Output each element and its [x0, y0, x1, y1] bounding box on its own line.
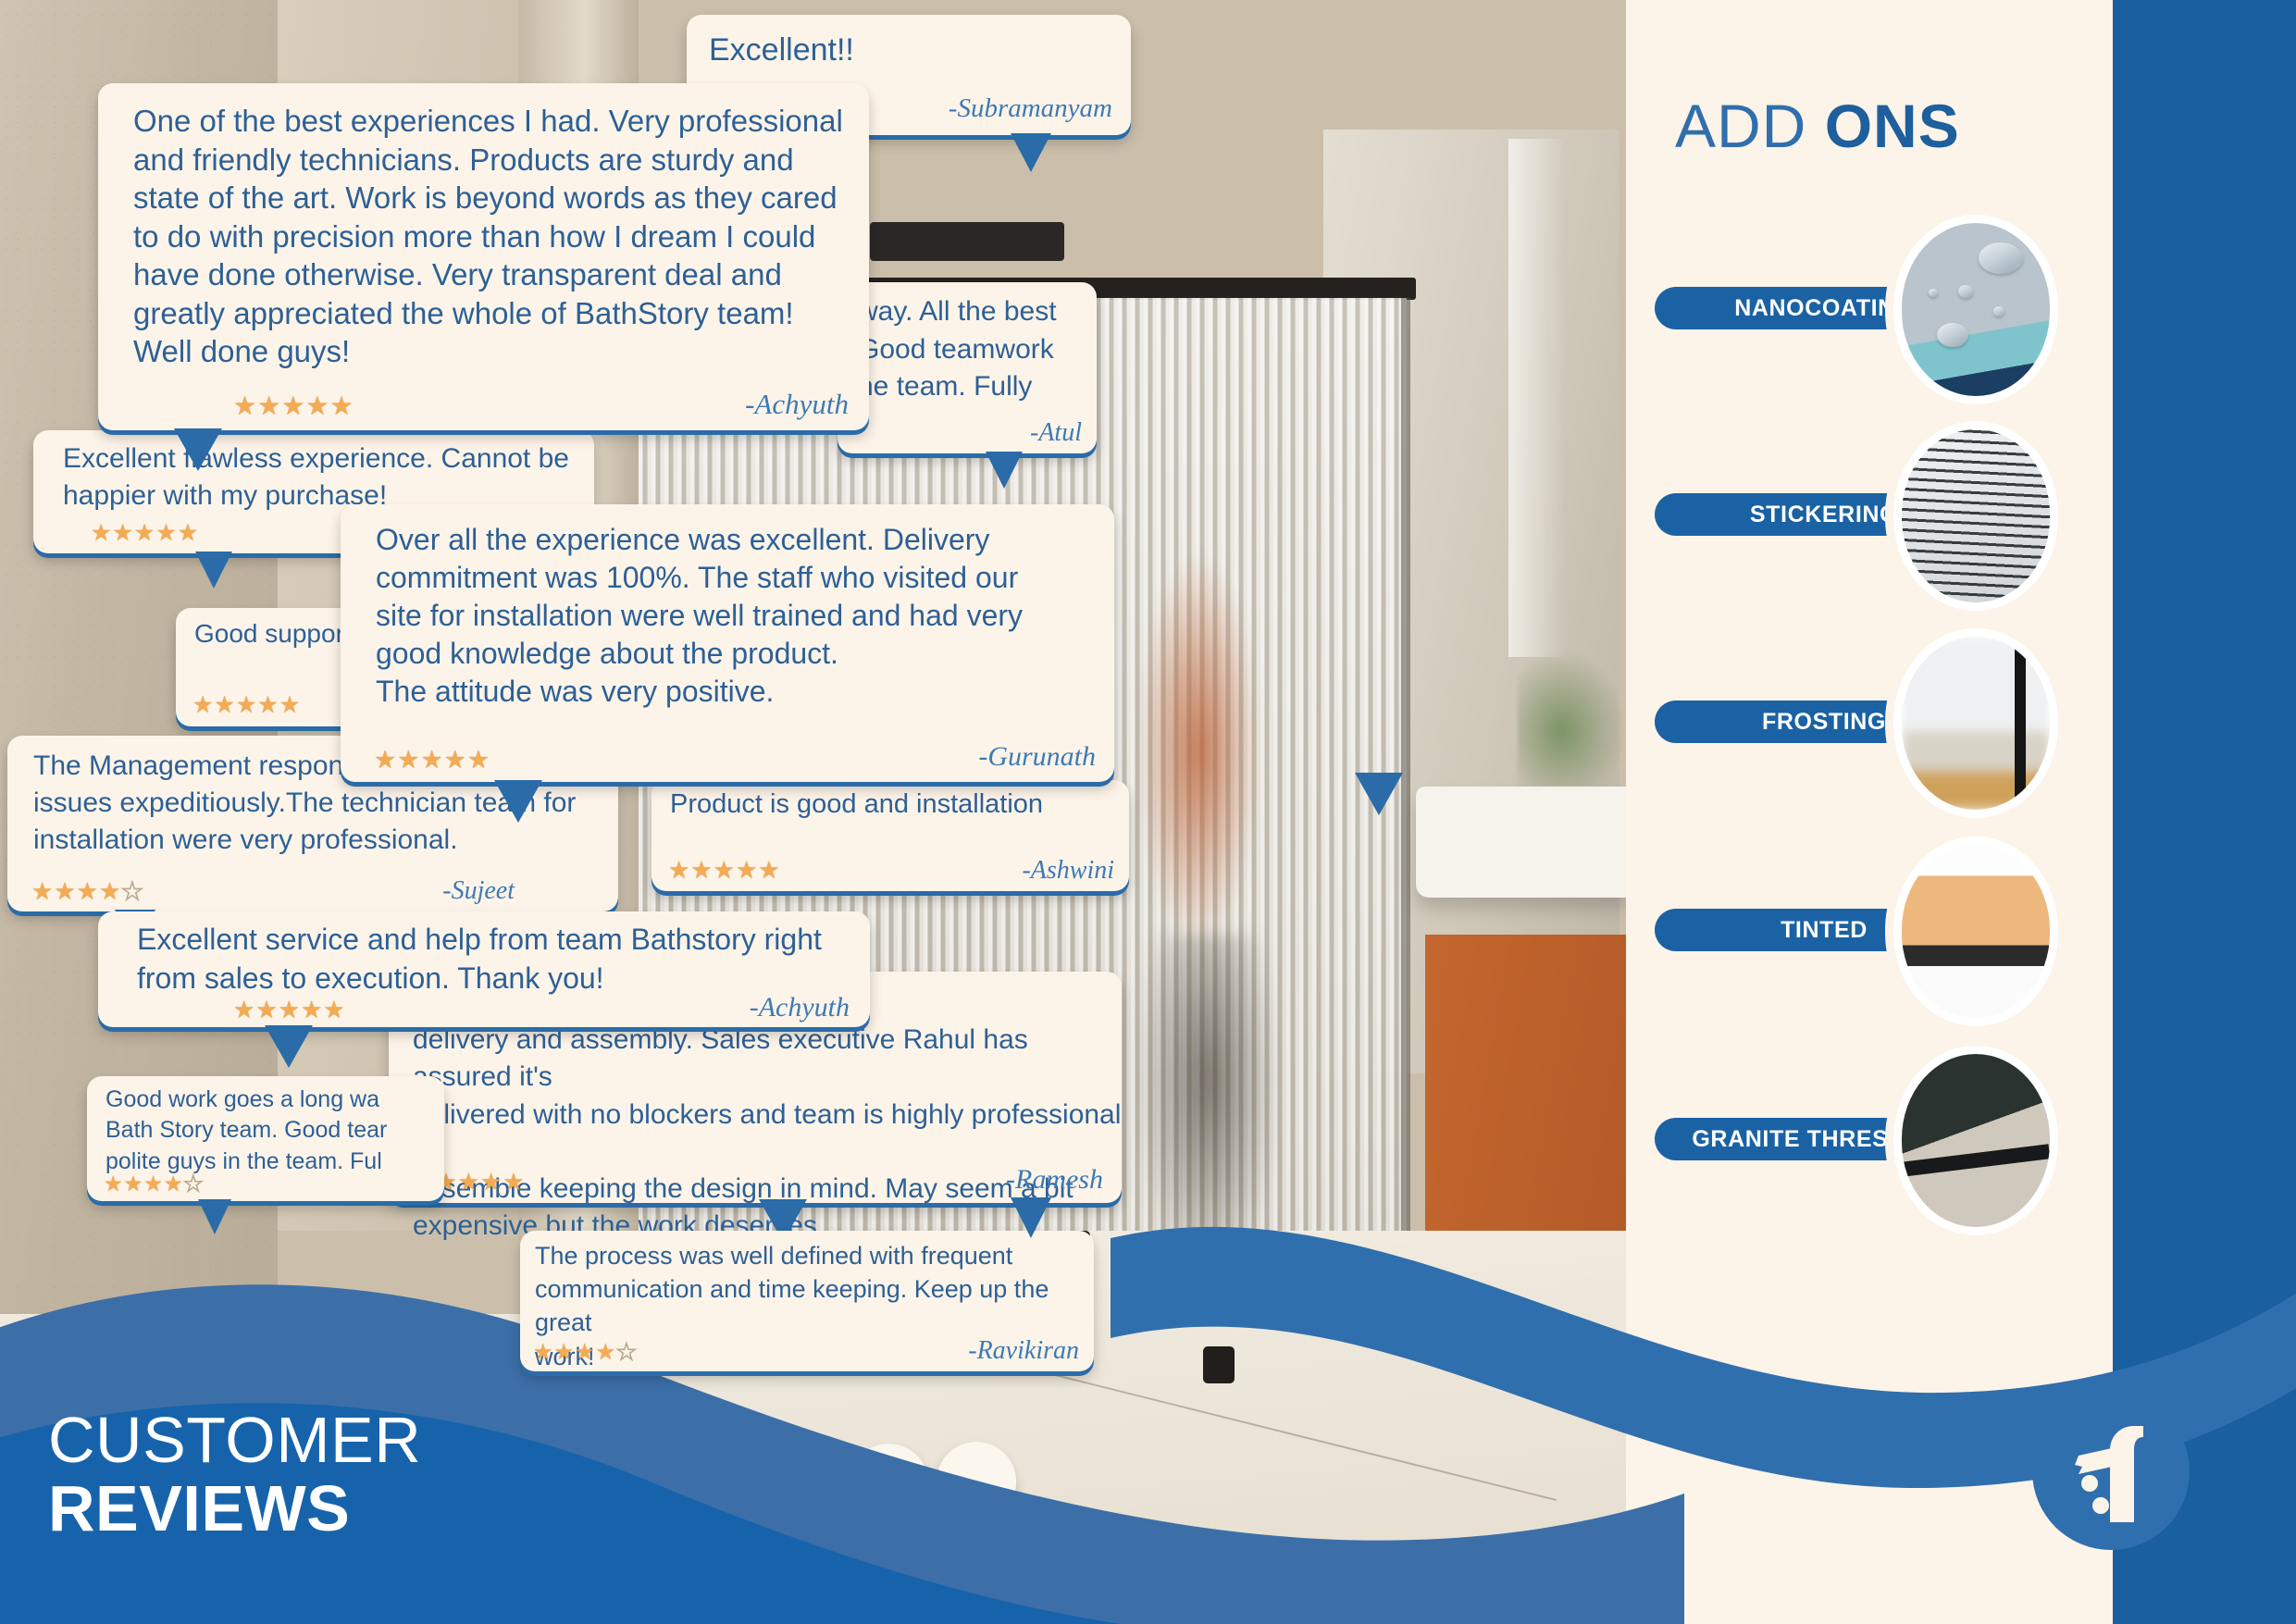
- review-bubble-ravikiran[interactable]: The process was well defined with freque…: [520, 1231, 1094, 1371]
- review-stars: ★★★★★: [233, 998, 346, 1022]
- page-title: CUSTOMER REVIEWS: [48, 1407, 421, 1543]
- review-author: -Gurunath: [978, 741, 1096, 773]
- review-stars: ★★★★★: [233, 393, 354, 419]
- review-bubble-atul[interactable]: way. All the best Good teamwork he team.…: [838, 282, 1097, 453]
- striped-sticker-film-thumb: [1893, 421, 2058, 611]
- review-bubble-achyuth-service[interactable]: Excellent service and help from team Bat…: [98, 911, 870, 1027]
- review-text: Good work goes a long wa Bath Story team…: [105, 1085, 387, 1177]
- brand-logo[interactable]: [2032, 1393, 2190, 1550]
- addon-row-tinted[interactable]: TINTED: [1655, 909, 2173, 951]
- review-stars: ★★★★★: [192, 694, 301, 717]
- addon-row-granite-threshold[interactable]: GRANITE THRESHOLD: [1655, 1118, 2173, 1160]
- review-author: -Subramanyam: [949, 93, 1112, 124]
- review-text: Over all the experience was excellent. D…: [376, 521, 1023, 711]
- review-author: -Achyuth: [750, 992, 850, 1023]
- review-stars: ★★★★★: [31, 879, 144, 903]
- review-text: way. All the best Good teamwork he team.…: [858, 293, 1057, 406]
- review-author: -Ravikiran: [968, 1336, 1079, 1366]
- review-author: -Ashwini: [1022, 856, 1114, 886]
- water-droplets-on-glass-thumb: [1893, 215, 2058, 404]
- review-text: Excellent service and help from team Bat…: [137, 921, 822, 998]
- poster-canvas: ADD ONS NANOCOATING STICKERING FROSTING: [0, 0, 2296, 1624]
- addon-row-frosting[interactable]: FROSTING: [1655, 700, 2173, 743]
- addons-heading: ADD ONS: [1675, 91, 1960, 161]
- page-title-line1: CUSTOMER: [48, 1407, 421, 1475]
- review-stars: ★★★★★: [533, 1342, 638, 1364]
- review-text: One of the best experiences I had. Very …: [133, 102, 843, 371]
- addons-heading-bold: ONS: [1825, 92, 1960, 160]
- review-author: -Achyuth: [745, 388, 849, 421]
- review-author: -Atul: [1030, 418, 1082, 448]
- review-stars: ★★★★★: [91, 522, 199, 545]
- review-text: Product is good and installation: [670, 789, 1043, 820]
- page-title-line2: REVIEWS: [48, 1475, 421, 1543]
- review-text: Good support: [194, 619, 352, 649]
- review-bubble-goodwork[interactable]: Good work goes a long wa Bath Story team…: [87, 1076, 444, 1201]
- review-author: -Ramesh: [1006, 1164, 1103, 1196]
- addons-heading-light: ADD: [1675, 92, 1825, 160]
- tinted-glass-edge-thumb: [1893, 837, 2058, 1026]
- review-text: Excellent!!: [709, 30, 854, 70]
- review-stars: ★★★★★: [668, 858, 781, 882]
- review-bubble-ashwini[interactable]: Product is good and installation ★★★★★ -…: [652, 780, 1129, 891]
- review-bubble-achyuth-long[interactable]: One of the best experiences I had. Very …: [98, 83, 869, 430]
- shower-head-icon: [2054, 1413, 2167, 1530]
- frosted-glass-thumb: [1893, 628, 2058, 818]
- review-bubble-gurunath[interactable]: Over all the experience was excellent. D…: [341, 504, 1114, 782]
- review-text: Excellent flawless experience. Cannot be…: [63, 440, 569, 514]
- review-stars: ★★★★★: [104, 1173, 204, 1195]
- addon-row-nanocoating[interactable]: NANOCOATING: [1655, 287, 2173, 329]
- review-author: -Sujeet: [442, 876, 515, 906]
- review-stars: ★★★★★: [374, 748, 490, 773]
- addon-row-stickering[interactable]: STICKERING: [1655, 493, 2173, 536]
